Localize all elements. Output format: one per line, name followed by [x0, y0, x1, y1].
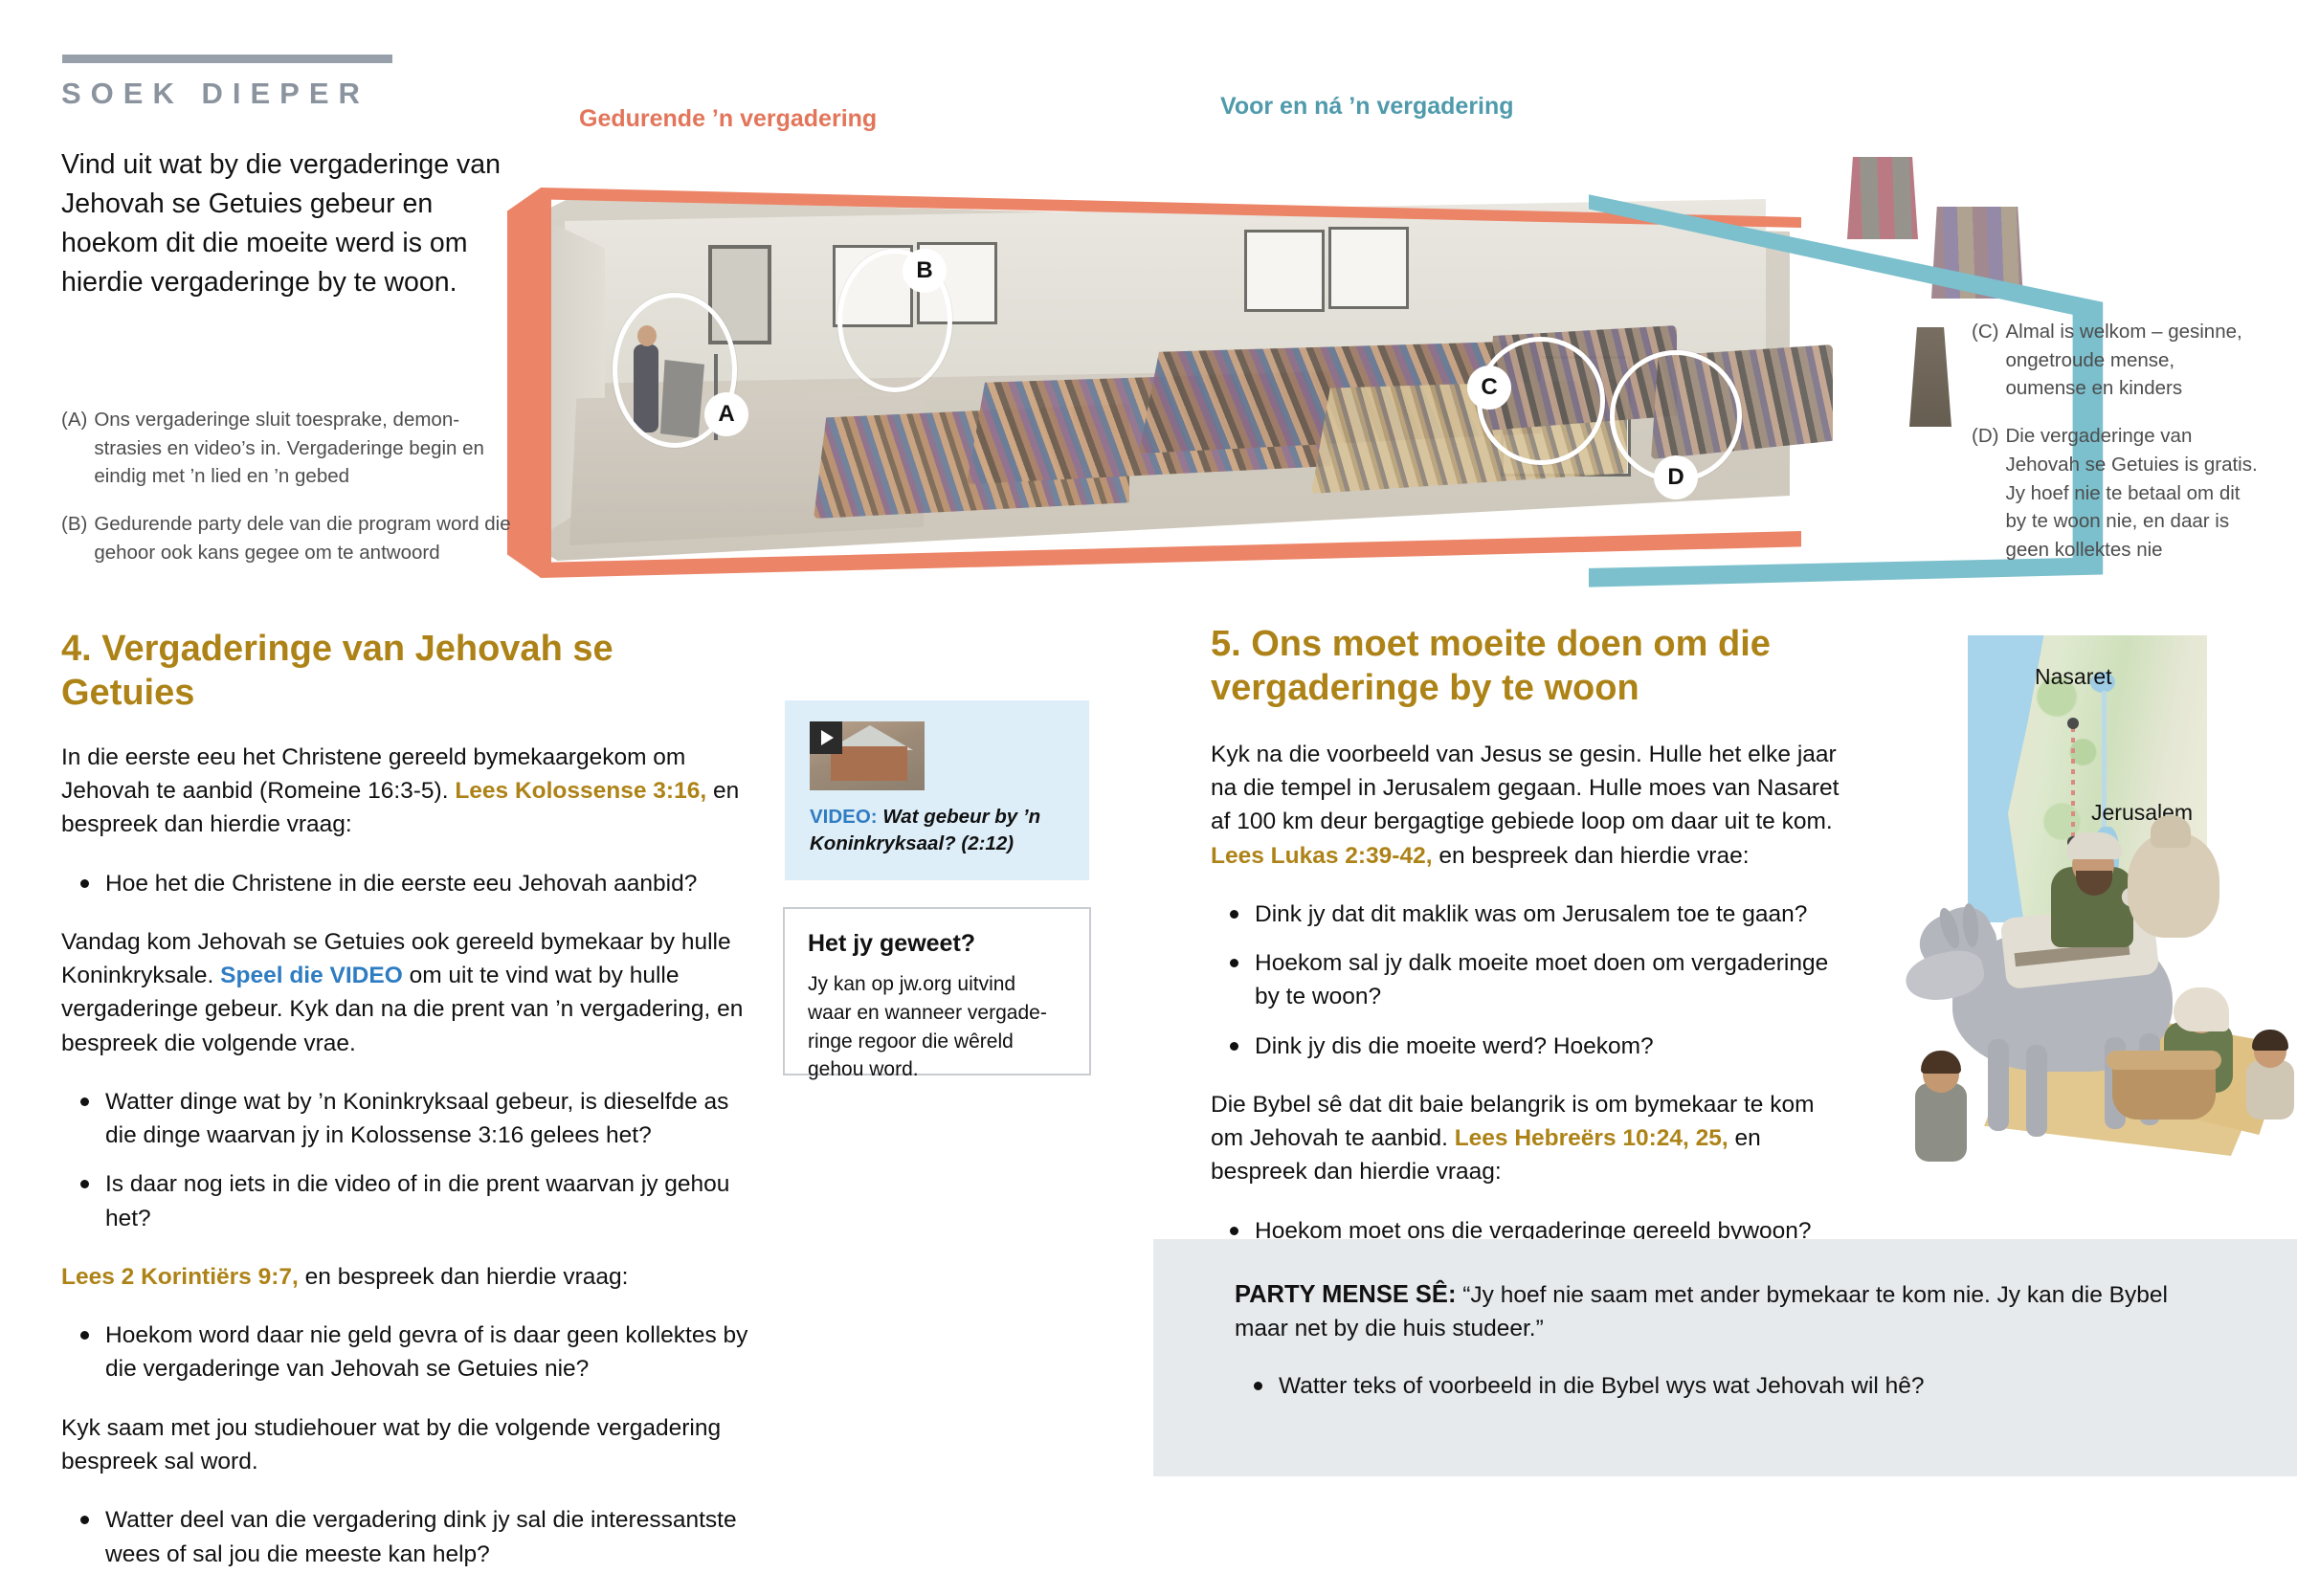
- video-thumbnail[interactable]: [810, 721, 925, 790]
- section-5: 5. Ons moet moeite doen om die vergaderi…: [1211, 622, 1842, 1273]
- s5-p1-text-b: en bespreek dan hierdie vrae:: [1433, 843, 1750, 869]
- legend-text-b: Gedurende party dele van die program wor…: [94, 510, 511, 566]
- question-item: Hoe het die Christene in die eerste eeu …: [105, 867, 750, 900]
- some-people-say-content: PARTY MENSE SÊ: “Jy hoef nie saam met an…: [1235, 1277, 2192, 1428]
- section-5-heading: 5. Ons moet moeite doen om die vergaderi…: [1211, 622, 1842, 711]
- legend-item-d: (D) Die vergaderinge van Jehovah se Getu…: [1972, 422, 2259, 565]
- scripture-link-hebreers-10-24-25[interactable]: Lees Hebreërs 10:24, 25,: [1455, 1125, 1728, 1151]
- s5-p1-text-a: Kyk na die voorbeeld van Jesus se gesin.…: [1211, 742, 1839, 835]
- woven-basket-lid: [2107, 1051, 2221, 1070]
- legend-text-d: Die vergaderinge van Jehovah se Getuies …: [2005, 422, 2259, 565]
- callout-badge-a: A: [704, 392, 748, 436]
- question-item: Watter dinge wat by ’n Koninkryksaal geb…: [105, 1085, 750, 1153]
- question-item: Dink jy dat dit maklik was om Jerusalem …: [1255, 898, 1842, 931]
- callout-badge-d: D: [1654, 455, 1698, 499]
- label-before-after-meeting: Voor en ná ’n vergadering: [1220, 93, 1514, 121]
- legend-text-a: Ons vergaderinge sluit toesprake, demon-…: [94, 406, 511, 491]
- legend-key-c: (C): [1972, 318, 2005, 403]
- legend-key-b: (B): [61, 510, 94, 566]
- did-you-know-box: Het jy geweet? Jy kan op jw.org uitvind …: [783, 907, 1091, 1075]
- woman-head-scarf: [2174, 987, 2229, 1031]
- video-play-link[interactable]: Speel die VIDEO: [220, 963, 403, 988]
- legend-text-c: Almal is welkom – gesinne, ongetroude me…: [2005, 318, 2259, 403]
- donkey-leg-1: [1988, 1039, 2009, 1131]
- hall-window-4: [1328, 227, 1409, 309]
- scripture-link-lukas-2-39-42[interactable]: Lees Lukas 2:39-42,: [1211, 843, 1433, 869]
- question-item: Watter teks of voorbeeld in die Bybel wy…: [1279, 1369, 2192, 1403]
- section-4-question-list-3: Hoekom word daar nie geld gevra of is da…: [61, 1319, 750, 1386]
- section-4-paragraph-2: Vandag kom Jehovah se Getuies ook gereel…: [61, 925, 750, 1060]
- label-during-meeting: Gedurende ’n vergadering: [579, 105, 877, 133]
- header-rule: [62, 55, 392, 63]
- grain-sack-tie: [2151, 815, 2191, 848]
- outside-couple: [1847, 157, 1918, 239]
- scripture-link-kolossense-3-16[interactable]: Lees Kolossense 3:16,: [455, 778, 706, 804]
- grain-sack: [2128, 832, 2219, 938]
- question-item: Watter deel van die vergadering dink jy …: [105, 1503, 750, 1571]
- question-item: Hoekom word daar nie geld gevra of is da…: [105, 1319, 750, 1386]
- boy-hair: [2252, 1030, 2288, 1051]
- boy-body: [2246, 1060, 2294, 1119]
- page-lede: Vind uit wat by die vergaderinge van Jeh…: [61, 145, 511, 302]
- legend-item-c: (C) Almal is welkom – gesinne, ongetroud…: [1972, 318, 2259, 403]
- section-4-heading: 4. Vergaderinge van Jehovah se Getuies: [61, 627, 750, 716]
- video-kicker: VIDEO:: [810, 806, 878, 828]
- some-people-say-question-list: Watter teks of voorbeeld in die Bybel wy…: [1235, 1369, 2192, 1403]
- video-card[interactable]: VIDEO: Wat gebeur by ’n Koninkryksaal? (…: [785, 700, 1089, 880]
- child-body: [1915, 1083, 1967, 1162]
- section-4-question-list-4: Watter deel van die vergadering dink jy …: [61, 1503, 750, 1571]
- hall-cutaway: A B C D: [517, 153, 1972, 612]
- some-people-say-title: PARTY MENSE SÊ:: [1235, 1281, 1456, 1308]
- city-marker-nasaret: [2067, 718, 2079, 729]
- did-you-know-body: Jy kan op jw.org uitvind waar en wanneer…: [808, 970, 1047, 1084]
- section-4-paragraph-1: In die eerste eeu het Christene gereeld …: [61, 741, 750, 842]
- page-eyebrow: SOEK DIEPER: [61, 77, 369, 111]
- legend-item-b: (B) Gedurende party dele van die program…: [61, 510, 511, 566]
- question-item: Dink jy dis die moeite werd? Hoekom?: [1255, 1030, 1842, 1063]
- page-root: SOEK DIEPER Vind uit wat by die vergader…: [0, 0, 2297, 1476]
- legend-left: (A) Ons vergaderinge sluit toesprake, de…: [61, 406, 511, 587]
- play-icon[interactable]: [810, 721, 842, 754]
- hall-window-3: [1244, 230, 1325, 312]
- question-item: Is daar nog iets in die video of in die …: [105, 1167, 750, 1235]
- section-4-question-list-1: Hoe het die Christene in die eerste eeu …: [61, 867, 750, 900]
- bible-times-family-illustration: [1900, 804, 2297, 1186]
- callout-badge-b: B: [903, 249, 947, 293]
- section-4-paragraph-3: Lees 2 Korintiërs 9:7, en bespreek dan h…: [61, 1260, 750, 1294]
- section-5-paragraph-2: Die Bybel sê dat dit baie belangrik is o…: [1211, 1088, 1842, 1189]
- question-item: Hoekom sal jy dalk moeite moet doen om v…: [1255, 946, 1842, 1014]
- kingdom-hall-illustration: A B C D: [517, 153, 1972, 612]
- child-feeding-donkey: [1902, 1043, 1988, 1186]
- some-people-say-quote-line: PARTY MENSE SÊ: “Jy hoef nie saam met an…: [1235, 1277, 2192, 1346]
- donkey-leg-2: [2026, 1045, 2047, 1137]
- legend-key-a: (A): [61, 406, 94, 491]
- legend-right: (C) Almal is welkom – gesinne, ongetroud…: [1972, 318, 2259, 584]
- man-head-cloth: [2066, 832, 2122, 859]
- outside-man-walking: [1909, 327, 1951, 427]
- section-5-paragraph-1: Kyk na die voorbeeld van Jesus se gesin.…: [1211, 738, 1842, 873]
- video-caption: VIDEO: Wat gebeur by ’n Koninkryksaal? (…: [810, 804, 1064, 856]
- child-hair: [1921, 1051, 1961, 1074]
- seated-boy: [2235, 1024, 2297, 1129]
- section-4-paragraph-4: Kyk saam met jou studiehouer wat by die …: [61, 1411, 750, 1479]
- did-you-know-title: Het jy geweet?: [808, 930, 975, 958]
- legend-item-a: (A) Ons vergaderinge sluit toesprake, de…: [61, 406, 511, 491]
- s4-p3-text-b: en bespreek dan hierdie vraag:: [299, 1264, 629, 1290]
- section-4: 4. Vergaderinge van Jehovah se Getuies I…: [61, 627, 750, 1596]
- kingdom-hall-wall-shape: [831, 746, 907, 781]
- section-5-question-list-1: Dink jy dat dit maklik was om Jerusalem …: [1211, 898, 1842, 1063]
- section-4-question-list-2: Watter dinge wat by ’n Koninkryksaal geb…: [61, 1085, 750, 1235]
- callout-badge-c: C: [1467, 366, 1511, 410]
- legend-key-d: (D): [1972, 422, 2005, 565]
- map-label-nasaret: Nasaret: [2035, 664, 2112, 690]
- scripture-link-2-korintiers-9-7[interactable]: Lees 2 Korintiërs 9:7,: [61, 1264, 299, 1290]
